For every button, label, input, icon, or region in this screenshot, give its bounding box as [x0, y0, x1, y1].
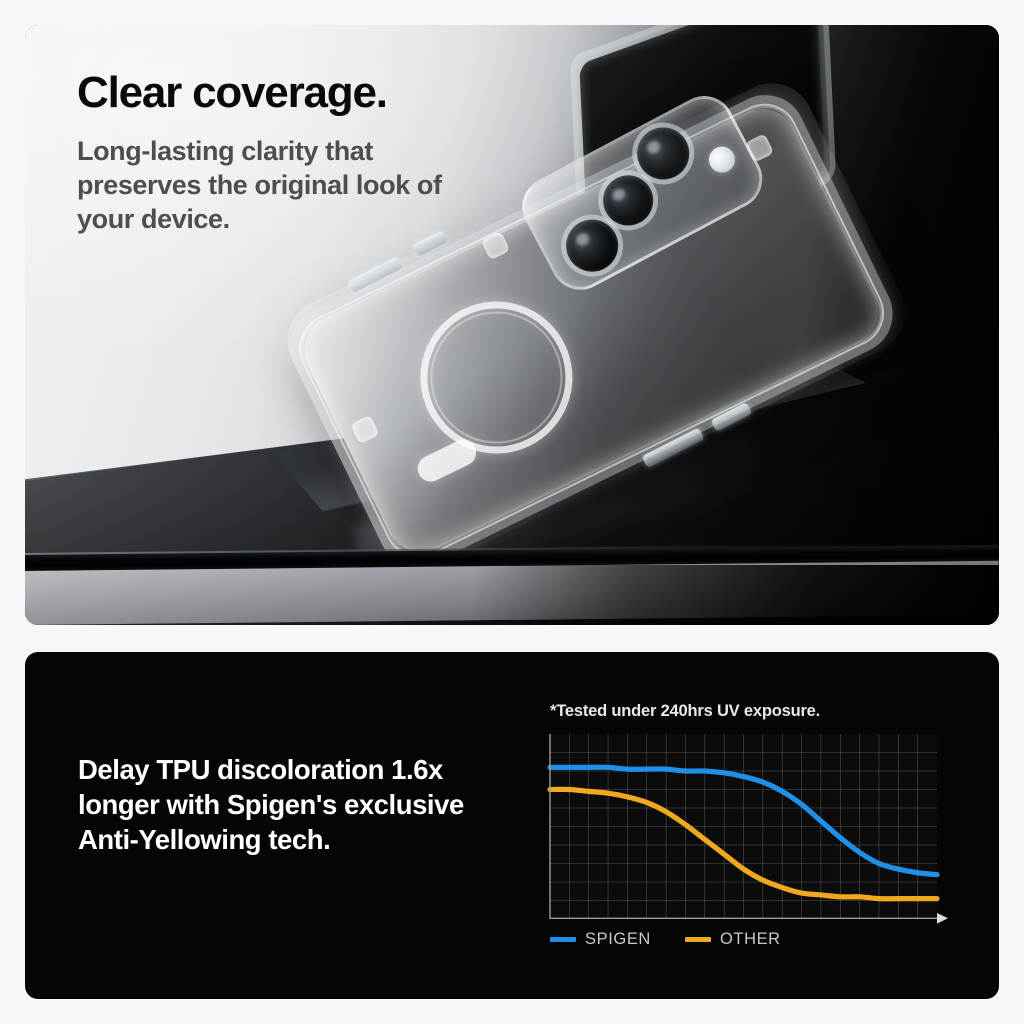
chart-legend: SPIGEN OTHER	[550, 930, 781, 949]
legend-label-spigen: SPIGEN	[585, 930, 651, 949]
page-title: Clear coverage.	[77, 70, 477, 116]
anti-yellowing-panel: Delay TPU discoloration 1.6x longer with…	[25, 652, 999, 999]
anti-yellowing-headline: Delay TPU discoloration 1.6x longer with…	[78, 752, 468, 858]
bottom-panel-copy: Delay TPU discoloration 1.6x longer with…	[78, 752, 468, 858]
top-panel-copy: Clear coverage. Long-lasting clarity tha…	[77, 70, 477, 236]
clear-coverage-panel: Clear coverage. Long-lasting clarity tha…	[25, 25, 999, 625]
chart-note: *Tested under 240hrs UV exposure.	[550, 702, 820, 721]
chart-axis-arrow-icon	[937, 913, 948, 924]
legend-item-spigen: SPIGEN	[550, 930, 651, 949]
chart-svg	[550, 734, 937, 919]
legend-swatch-other	[685, 937, 711, 942]
legend-item-other: OTHER	[685, 930, 781, 949]
legend-swatch-spigen	[550, 937, 576, 942]
camera-flash-icon	[704, 142, 739, 177]
chart-gridlines	[550, 734, 937, 919]
legend-label-other: OTHER	[720, 930, 781, 949]
product-feature-page: Clear coverage. Long-lasting clarity tha…	[0, 0, 1024, 1024]
chart-plot-area	[550, 734, 937, 919]
top-panel-subcopy: Long-lasting clarity that preserves the …	[77, 134, 477, 236]
surface-foreground-shadow	[473, 565, 999, 625]
uv-discoloration-chart: *Tested under 240hrs UV exposure. SPIGEN	[525, 702, 965, 952]
